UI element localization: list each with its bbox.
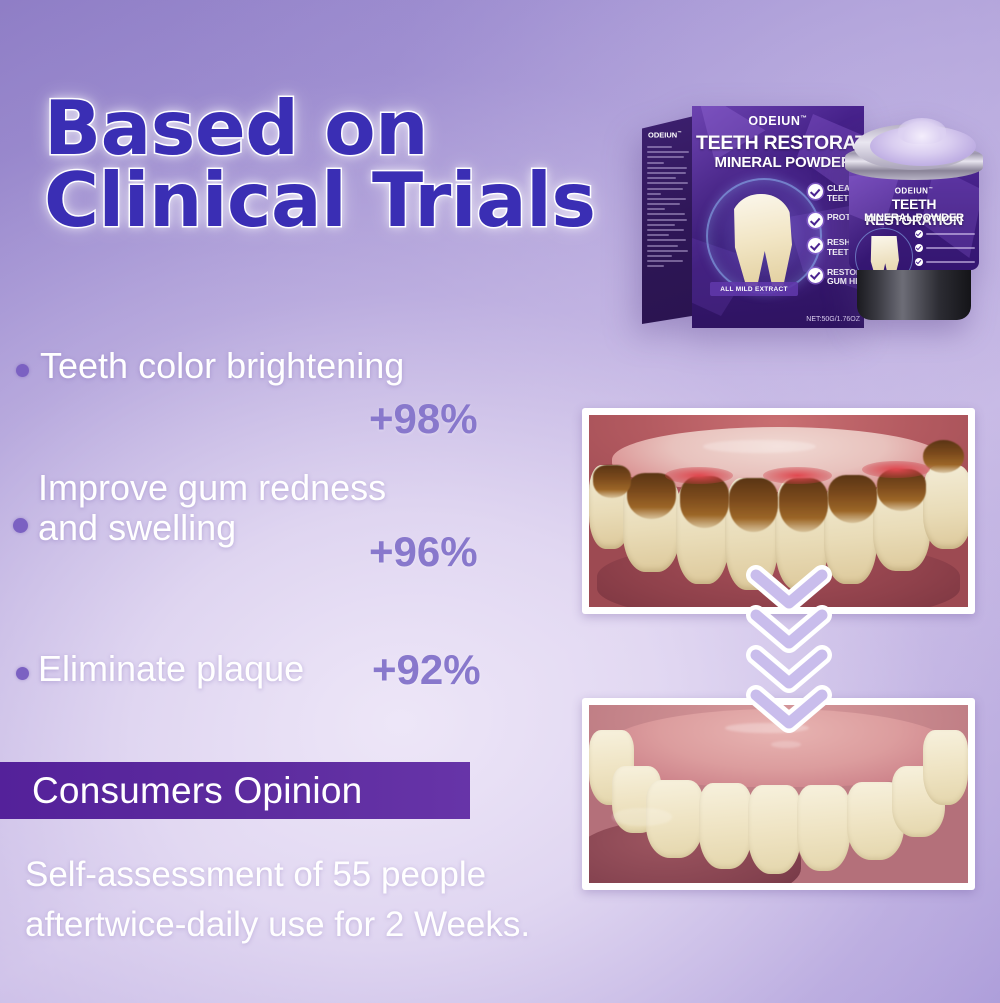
- product-jar: ODEIUN™ TEETH RESTORATION MINERAL POWDER: [845, 118, 983, 324]
- consumers-opinion-label: Consumers Opinion: [32, 770, 362, 812]
- benefit-item: Eliminate plaque +92%: [0, 645, 560, 725]
- box-brand-name: ODEIUN™: [692, 114, 864, 128]
- benefit-item: Improve gum redness and swelling +96%: [0, 468, 560, 608]
- product-box: ODEIUN™ ODEIUN™ TEETH RESTORATION MINERA…: [642, 106, 864, 326]
- product-package-image: ODEIUN™ ODEIUN™ TEETH RESTORATION MINERA…: [630, 88, 1000, 338]
- transition-arrows: [746, 565, 846, 735]
- benefit-percent: +92%: [372, 646, 481, 694]
- check-circle-icon: [808, 184, 823, 199]
- check-circle-icon: [915, 230, 923, 238]
- jar-brand-name: ODEIUN™: [849, 186, 979, 196]
- powder-peak: [898, 118, 946, 144]
- product-box-side-panel: ODEIUN™: [642, 116, 694, 324]
- box-tagline-badge: ALL MILD EXTRACT: [710, 282, 798, 296]
- check-circle-icon: [915, 258, 923, 266]
- benefit-percent: +98%: [369, 395, 478, 443]
- box-product-subtitle: MINERAL POWDER: [698, 154, 864, 171]
- box-product-title: TEETH RESTORATION: [696, 132, 864, 155]
- bullet-dot-icon: [13, 518, 28, 533]
- check-circle-icon: [808, 268, 823, 283]
- bullet-dot-icon: [16, 667, 29, 680]
- chevron-down-icon: [746, 685, 832, 737]
- bullet-dot-icon: [16, 364, 29, 377]
- jar-feature-list: [915, 230, 975, 270]
- box-side-brand: ODEIUN™: [648, 130, 682, 140]
- benefit-percent: +96%: [369, 528, 478, 576]
- consumers-opinion-banner: Consumers Opinion: [0, 762, 470, 819]
- benefit-label: Teeth color brightening: [40, 346, 404, 386]
- check-circle-icon: [808, 238, 823, 253]
- jar-product-subtitle: MINERAL POWDER: [849, 212, 979, 224]
- check-circle-icon: [915, 244, 923, 252]
- benefit-label: Eliminate plaque: [38, 649, 304, 689]
- benefit-item: Teeth color brightening +98%: [0, 340, 560, 460]
- box-side-fineprint: [647, 146, 689, 271]
- jar-opening: [854, 124, 974, 170]
- jar-tooth-illustration: [869, 236, 899, 270]
- benefit-label: Improve gum redness and swelling: [38, 468, 386, 549]
- product-infographic-poster: Based on Clinical Trials ODEIUN™: [0, 0, 1000, 1003]
- headline-line-2: Clinical Trials: [44, 164, 664, 236]
- check-circle-icon: [808, 213, 823, 228]
- product-box-front: ODEIUN™ TEETH RESTORATION MINERAL POWDER…: [692, 106, 864, 328]
- page-title: Based on Clinical Trials: [44, 92, 664, 236]
- consumers-footnote: Self-assessment of 55 people aftertwice-…: [25, 850, 585, 949]
